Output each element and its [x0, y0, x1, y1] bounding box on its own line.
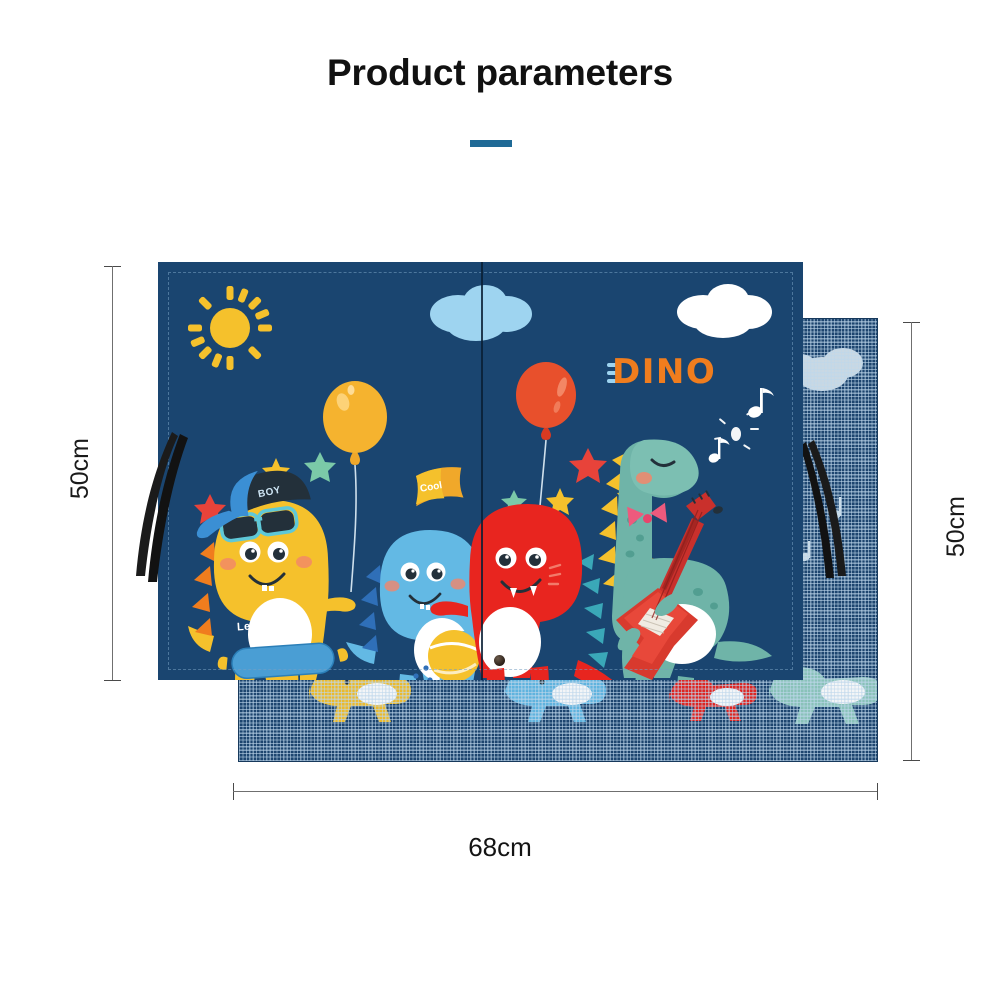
ribbon-tie-icon — [128, 430, 198, 590]
dim-cap-right — [877, 783, 878, 800]
product-cover-front — [158, 262, 803, 680]
dim-line — [112, 266, 113, 680]
dim-cap-bottom — [104, 680, 121, 681]
cover-fold-seam — [481, 262, 483, 680]
product-diagram: 50cm 50cm 68cm — [0, 0, 1000, 1000]
dimension-left-label: 50cm — [66, 438, 95, 499]
dim-line — [911, 322, 912, 760]
dim-line — [233, 791, 878, 792]
dimension-right-label: 50cm — [942, 496, 971, 557]
ribbon-tie-icon — [800, 438, 870, 588]
sun-icon — [188, 286, 272, 370]
dimension-bottom-label: 68cm — [0, 832, 1000, 863]
ribbon-ties-left — [128, 430, 198, 595]
ribbon-ties-right — [800, 438, 870, 593]
dim-cap-bottom — [903, 760, 920, 761]
dino-wordmark: DINO — [612, 352, 716, 392]
snap-button-icon — [494, 655, 505, 666]
